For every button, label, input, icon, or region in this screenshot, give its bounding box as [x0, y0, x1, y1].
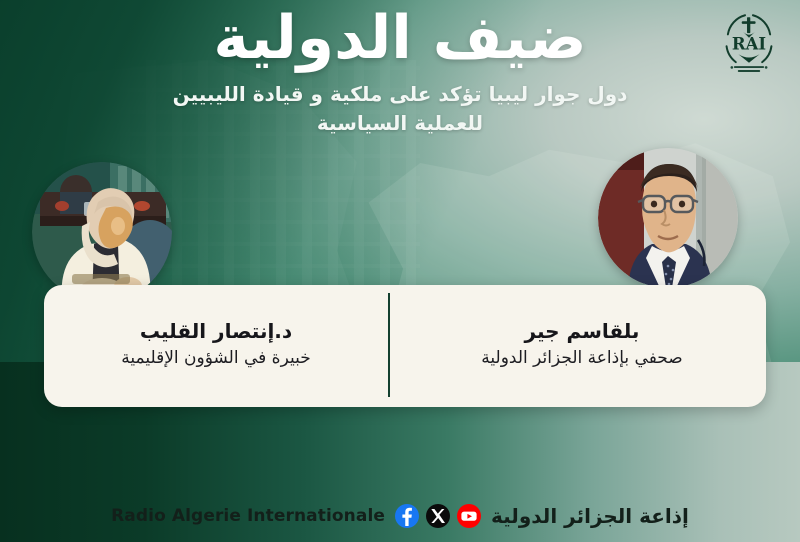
guests-card: د.إنتصار القليب خبيرة في الشؤون الإقليمي…	[44, 285, 766, 407]
card-divider	[388, 293, 390, 397]
program-title: ضيف الدولية	[0, 8, 800, 68]
footer-bar: Radio Algerie Internationale إذاعة الجزا…	[0, 498, 800, 534]
x-twitter-icon[interactable]	[426, 504, 450, 528]
guest-info-left: د.إنتصار القليب خبيرة في الشؤون الإقليمي…	[66, 319, 366, 369]
youtube-icon[interactable]	[457, 504, 481, 528]
guest-info-right: بلقاسم جير صحفي بإذاعة الجزائر الدولية	[422, 319, 742, 369]
guest-name-left: د.إنتصار القليب	[66, 319, 366, 343]
guest-photo-right	[598, 148, 738, 288]
headline-area: ضيف الدولية دول جوار ليبيا تؤكد على ملكي…	[0, 8, 800, 138]
poster-canvas: RAI ضيف الدولية دول جوار ليبيا تؤكد على …	[0, 0, 800, 542]
guest-photo-left	[32, 162, 172, 302]
guest-name-right: بلقاسم جير	[422, 319, 742, 343]
footer-latin-label: Radio Algerie Internationale	[111, 506, 385, 526]
facebook-icon[interactable]	[395, 504, 419, 528]
footer-arabic-label: إذاعة الجزائر الدولية	[491, 504, 689, 528]
social-links	[395, 504, 481, 528]
guest-role-right: صحفي بإذاعة الجزائر الدولية	[422, 348, 742, 369]
guest-role-left: خبيرة في الشؤون الإقليمية	[66, 348, 366, 369]
program-subtitle: دول جوار ليبيا تؤكد على ملكية و قيادة ال…	[140, 80, 660, 138]
